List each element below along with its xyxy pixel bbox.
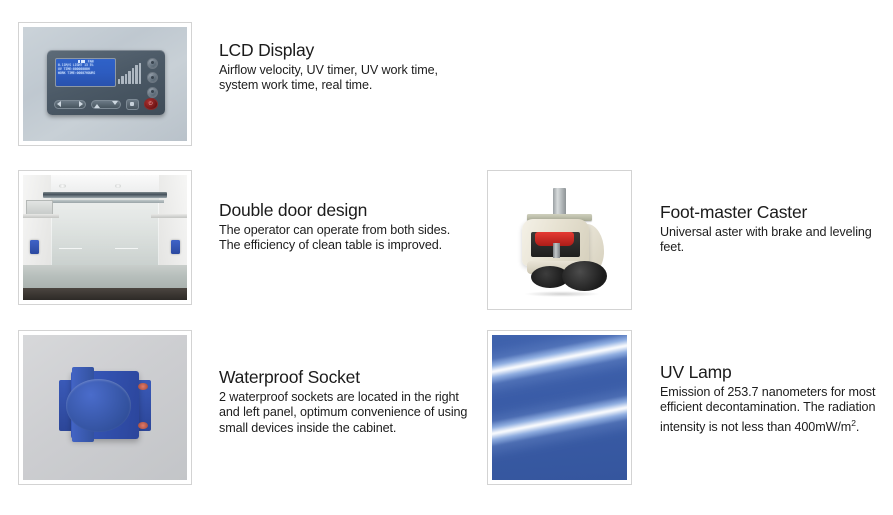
feature-card-uv-lamp: UV Lamp Emission of 253.7 nanometers for… <box>487 330 887 485</box>
lcd-line-work-time: WORK TIME:00007HOURS <box>58 72 113 76</box>
indicator-light-1-icon[interactable] <box>147 58 158 69</box>
uv-lamp-image-frame <box>487 330 632 485</box>
lcd-display-image-frame: FAN 0.11M/S LIGHT 13 5% UV TIME:00000000… <box>18 22 192 146</box>
control-panel-body: FAN 0.11M/S LIGHT 13 5% UV TIME:00000000… <box>47 50 165 115</box>
set-button[interactable] <box>126 99 138 110</box>
uv-lamp-body-text: Emission of 253.7 nanometers for most ef… <box>660 385 875 434</box>
glass-sash <box>43 192 168 198</box>
caster-wheel <box>562 261 607 291</box>
panel-indicator-lights <box>145 58 159 98</box>
uv-lamp-text-block: UV Lamp Emission of 253.7 nanometers for… <box>660 362 893 435</box>
lcd-display-heading: LCD Display <box>219 40 474 60</box>
caster-image-frame <box>487 170 632 310</box>
interior-socket-left <box>30 240 39 254</box>
double-door-heading: Double door design <box>219 200 474 220</box>
socket-screw-top <box>138 383 148 390</box>
interior-socket-right <box>171 240 180 254</box>
blue-waterproof-socket-photo <box>23 335 187 480</box>
socket-image-frame <box>18 330 192 485</box>
arrow-down-icon <box>112 101 118 108</box>
uv-lamp-body: Emission of 253.7 nanometers for most ef… <box>660 385 893 435</box>
waterproof-socket-heading: Waterproof Socket <box>219 367 481 387</box>
uv-lamp-tubes-photo <box>492 335 627 480</box>
threaded-stem <box>553 188 565 217</box>
feature-card-double-door-design: Double door design The operator can oper… <box>18 170 478 305</box>
up-down-rocker-button[interactable] <box>91 100 121 109</box>
waterproof-socket-body: 2 waterproof sockets are located in the … <box>219 390 481 436</box>
arrow-left-icon <box>57 101 61 107</box>
feature-card-foot-master-caster: Foot-master Caster Universal aster with … <box>487 170 887 310</box>
lcd-display-text-block: LCD Display Airflow velocity, UV timer, … <box>219 40 474 94</box>
signal-bars-icon <box>118 63 142 84</box>
uv-lamp-body-tail: . <box>856 420 859 434</box>
uv-lamp-heading: UV Lamp <box>660 362 893 382</box>
stainless-worktop <box>23 265 187 289</box>
double-door-text-block: Double door design The operator can oper… <box>219 200 474 254</box>
lcd-display-body: Airflow velocity, UV timer, UV work time… <box>219 63 474 94</box>
caster-heading: Foot-master Caster <box>660 202 890 222</box>
left-right-rocker-button[interactable] <box>54 100 87 109</box>
double-door-image-frame <box>18 170 192 305</box>
feature-card-waterproof-socket: Waterproof Socket 2 waterproof sockets a… <box>18 330 478 485</box>
arrow-right-icon <box>79 101 83 107</box>
lcd-screen: FAN 0.11M/S LIGHT 13 5% UV TIME:00000000… <box>55 58 116 87</box>
caster-text-block: Foot-master Caster Universal aster with … <box>660 202 890 256</box>
power-button[interactable]: ⏻ <box>144 98 158 110</box>
lcd-control-panel-photo: FAN 0.11M/S LIGHT 13 5% UV TIME:00000000… <box>23 27 187 141</box>
caster-body: Universal aster with brake and leveling … <box>660 225 890 256</box>
waterproof-socket-text-block: Waterproof Socket 2 waterproof sockets a… <box>219 367 481 436</box>
panel-button-row: ⏻ <box>54 99 158 111</box>
indicator-light-3-icon[interactable] <box>147 87 158 98</box>
socket-cover <box>66 379 132 433</box>
arrow-up-icon <box>94 101 100 108</box>
foot-master-caster-photo <box>492 175 627 305</box>
clean-bench-interior-photo <box>23 175 187 300</box>
double-door-body: The operator can operate from both sides… <box>219 223 474 254</box>
socket-screw-bottom <box>138 422 148 429</box>
feature-card-lcd-display: FAN 0.11M/S LIGHT 13 5% UV TIME:00000000… <box>18 22 478 146</box>
feature-grid: FAN 0.11M/S LIGHT 13 5% UV TIME:00000000… <box>0 0 893 515</box>
indicator-light-2-icon[interactable] <box>147 72 158 83</box>
